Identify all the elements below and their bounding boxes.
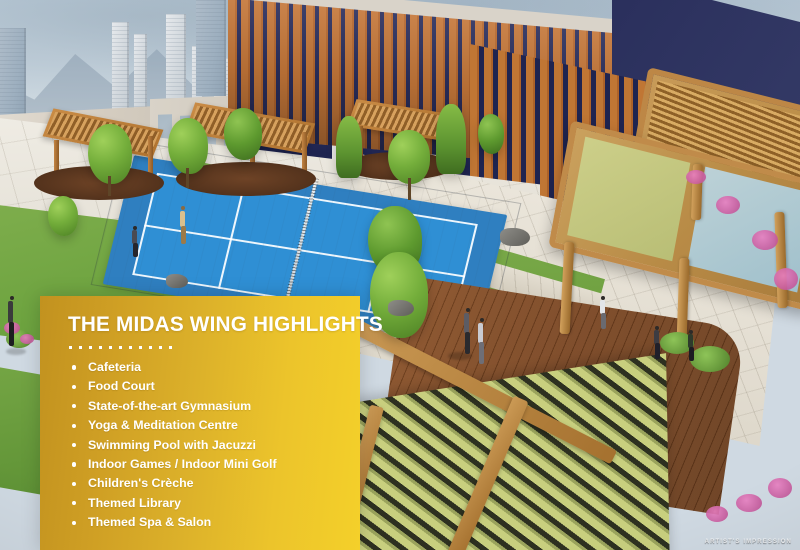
tree — [336, 116, 362, 178]
flowering-plant — [752, 230, 778, 250]
highlight-item: Indoor Games / Indoor Mini Golf — [68, 457, 346, 472]
person-figure — [686, 330, 698, 364]
divider-dot — [99, 346, 102, 349]
tree-trunk — [108, 176, 111, 196]
rendering-canvas: THE MIDAS WING HIGHLIGHTS CafeteriaFood … — [0, 0, 800, 550]
divider-dot — [129, 346, 132, 349]
flowering-plant — [716, 196, 740, 214]
landscape-boulder — [166, 274, 188, 288]
tree — [388, 130, 430, 184]
person-figure — [462, 308, 476, 356]
tree — [436, 104, 466, 174]
person-figure — [178, 206, 190, 246]
divider-dot — [139, 346, 142, 349]
highlight-item: Food Court — [68, 379, 346, 394]
person-figure — [130, 226, 142, 260]
tree — [48, 196, 78, 236]
person-figure — [6, 296, 20, 350]
highlight-item: Cafeteria — [68, 360, 346, 375]
tree — [88, 124, 132, 184]
highlight-item: Swimming Pool with Jacuzzi — [68, 438, 346, 453]
panel-title: THE MIDAS WING HIGHLIGHTS — [68, 312, 338, 337]
highlights-panel: THE MIDAS WING HIGHLIGHTS CafeteriaFood … — [40, 296, 360, 550]
tree — [168, 118, 208, 174]
highlight-item: Themed Library — [68, 496, 346, 511]
divider-dot — [159, 346, 162, 349]
pergola-post — [560, 242, 575, 334]
highlight-item: Yoga & Meditation Centre — [68, 418, 346, 433]
flowering-plant — [686, 170, 706, 184]
tree — [478, 114, 504, 154]
flowering-plant — [774, 268, 798, 290]
flowering-plant — [706, 506, 728, 522]
flowering-plant — [768, 478, 792, 498]
flowering-plant — [20, 334, 34, 344]
canopy-panel-green — [567, 137, 690, 262]
person-figure — [652, 326, 664, 362]
tree-trunk — [186, 168, 189, 188]
tree-trunk — [408, 178, 411, 200]
highlight-item: State-of-the-art Gymnasium — [68, 399, 346, 414]
divider-dot — [109, 346, 112, 349]
person-figure — [598, 296, 610, 332]
landscape-boulder — [388, 300, 414, 316]
divider-dot — [79, 346, 82, 349]
divider-dot — [69, 346, 72, 349]
flowering-plant — [736, 494, 762, 512]
highlight-item: Themed Spa & Salon — [68, 515, 346, 530]
distant-tower — [196, 0, 226, 96]
pergola-foreground — [560, 150, 800, 360]
person-figure — [476, 318, 490, 366]
tree — [224, 108, 262, 160]
divider-dot — [169, 346, 172, 349]
divider-dot — [149, 346, 152, 349]
landscape-boulder — [500, 228, 530, 246]
divider-dot — [119, 346, 122, 349]
divider-dots — [69, 346, 172, 349]
highlights-list: CafeteriaFood CourtState-of-the-art Gymn… — [68, 360, 346, 535]
artist-impression-credit: ARTIST'S IMPRESSION — [705, 539, 792, 545]
highlight-item: Children's Crèche — [68, 476, 346, 491]
divider-dot — [89, 346, 92, 349]
